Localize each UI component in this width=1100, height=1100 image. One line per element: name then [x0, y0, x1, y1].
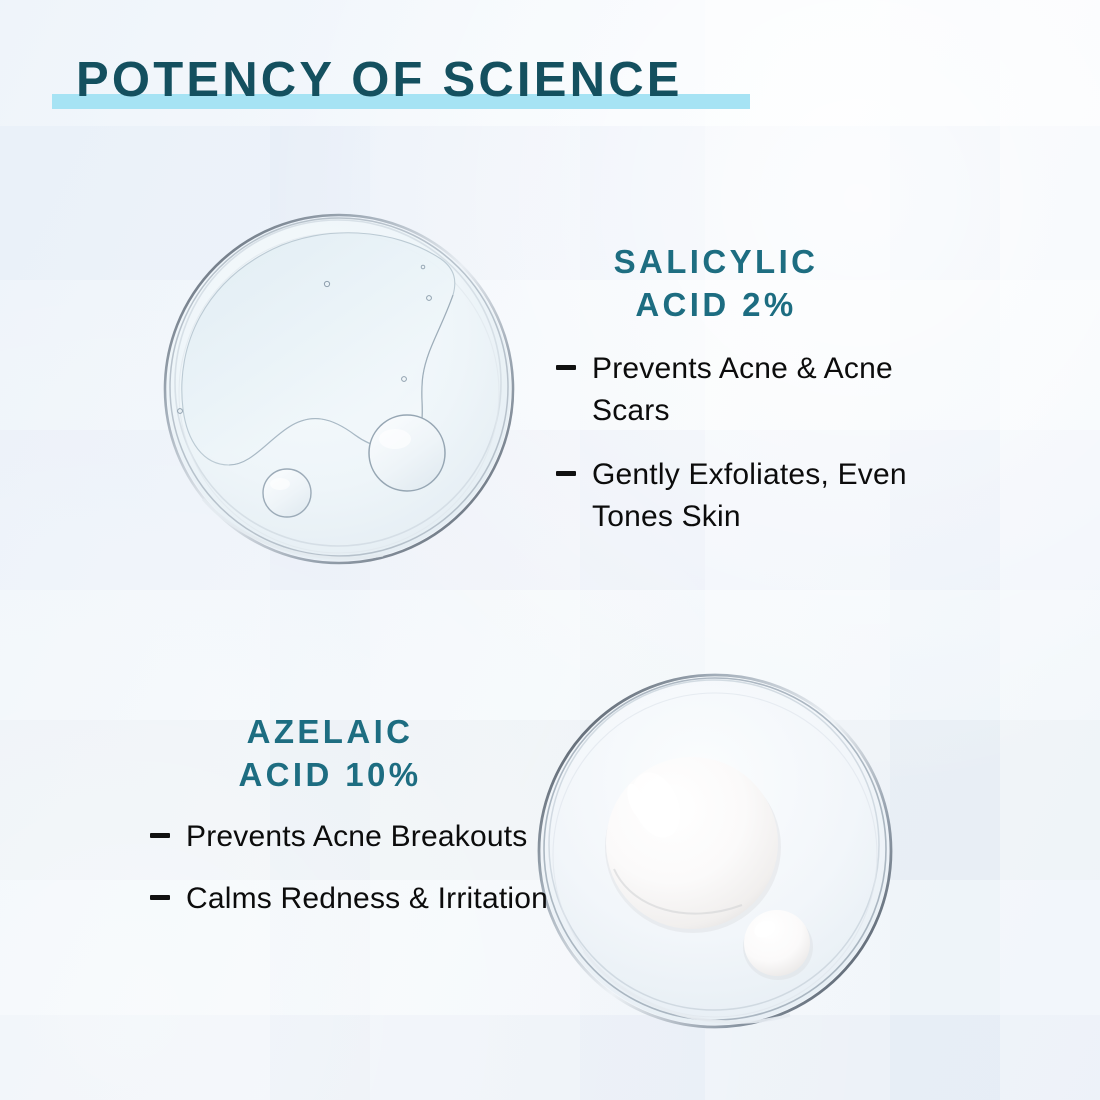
dash-bullet-icon [150, 895, 170, 900]
benefit-text: Prevents Acne Breakouts [186, 816, 527, 858]
ingredient-block-azelaic: AZELAIC ACID 10% Prevents Acne Breakouts… [150, 710, 550, 920]
dash-bullet-icon [556, 471, 576, 476]
potency-of-science-poster: POTENCY OF SCIENCE [0, 0, 1100, 1100]
ingredient-name-azelaic: AZELAIC ACID 10% [150, 710, 550, 796]
ingredient-name-line2: ACID 2% [556, 283, 876, 326]
benefit-text: Calms Redness & Irritation [186, 878, 548, 920]
page-title-text: POTENCY OF SCIENCE [76, 50, 683, 110]
list-item: Gently Exfoliates, Even Tones Skin [556, 454, 956, 538]
benefit-text: Prevents Acne & Acne Scars [592, 348, 956, 432]
petri-dish-azelaic [528, 663, 902, 1037]
ingredient-name-line2: ACID 10% [150, 753, 510, 796]
benefit-text: Gently Exfoliates, Even Tones Skin [592, 454, 956, 538]
page-title: POTENCY OF SCIENCE [52, 50, 812, 120]
ingredient-block-salicylic: SALICYLIC ACID 2% Prevents Acne & Acne S… [556, 240, 956, 538]
dash-bullet-icon [150, 833, 170, 838]
list-item: Prevents Acne Breakouts [150, 816, 550, 858]
benefit-list-azelaic: Prevents Acne Breakouts Calms Redness & … [150, 816, 550, 920]
list-item: Calms Redness & Irritation [150, 878, 550, 920]
benefit-list-salicylic: Prevents Acne & Acne Scars Gently Exfoli… [556, 348, 956, 538]
dash-bullet-icon [556, 365, 576, 370]
ingredient-name-salicylic: SALICYLIC ACID 2% [556, 240, 956, 326]
petri-dish-salicylic [155, 203, 523, 571]
ingredient-name-line1: AZELAIC [150, 710, 510, 753]
ingredient-name-line1: SALICYLIC [556, 240, 876, 283]
list-item: Prevents Acne & Acne Scars [556, 348, 956, 432]
